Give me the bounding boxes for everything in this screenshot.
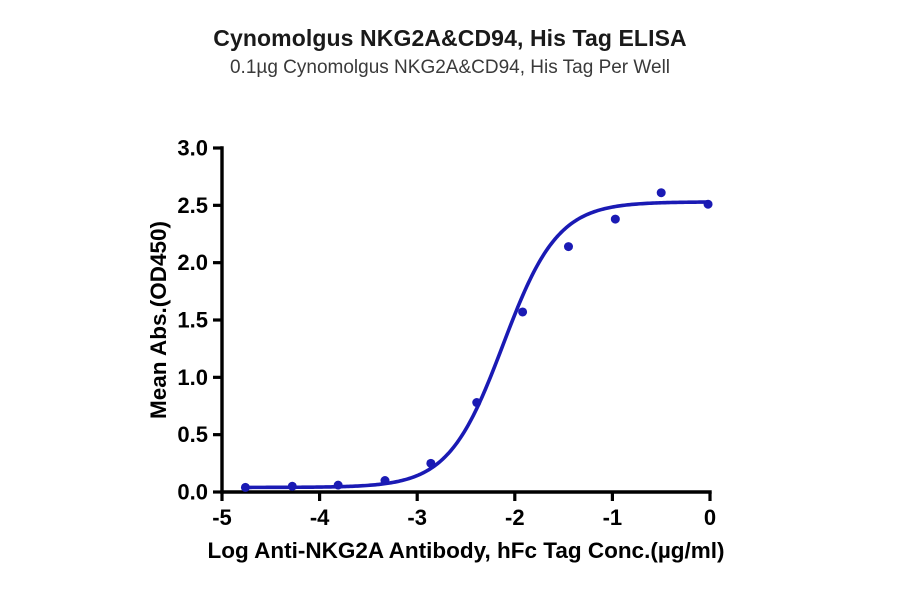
y-tick-label: 0.5	[177, 422, 208, 447]
x-axis-title: Log Anti-NKG2A Antibody, hFc Tag Conc.(µ…	[207, 538, 724, 563]
x-tick-labels: -5-4-3-2-10	[212, 505, 716, 530]
data-point	[611, 215, 620, 224]
data-point	[564, 242, 573, 251]
data-points	[241, 188, 713, 492]
data-point	[334, 481, 343, 490]
elisa-chart-figure: Cynomolgus NKG2A&CD94, His Tag ELISA 0.1…	[0, 0, 900, 594]
y-tick-label: 1.0	[177, 365, 208, 390]
y-tick-label: 2.5	[177, 193, 208, 218]
data-point	[426, 459, 435, 468]
data-point	[704, 200, 713, 209]
fit-curve	[245, 202, 708, 487]
y-tick-label: 3.0	[177, 136, 208, 161]
y-axis-title: Mean Abs.(OD450)	[146, 221, 171, 419]
x-tick-label: -5	[212, 505, 232, 530]
plot-area: 0.00.51.01.52.02.53.0 -5-4-3-2-10 Mean A…	[0, 0, 900, 594]
data-point	[380, 476, 389, 485]
data-point	[241, 483, 250, 492]
y-tick-label: 1.5	[177, 308, 208, 333]
x-tick-label: -3	[407, 505, 427, 530]
data-point	[657, 188, 666, 197]
y-tick-label: 2.0	[177, 250, 208, 275]
x-tick-label: -4	[310, 505, 330, 530]
y-tick-labels: 0.00.51.01.52.02.53.0	[177, 136, 208, 505]
data-point	[288, 482, 297, 491]
x-tick-label: -1	[603, 505, 623, 530]
data-point	[518, 307, 527, 316]
y-tick-label: 0.0	[177, 480, 208, 505]
data-point	[472, 398, 481, 407]
x-tick-label: -2	[505, 505, 525, 530]
tick-marks	[213, 148, 710, 501]
x-tick-label: 0	[704, 505, 716, 530]
